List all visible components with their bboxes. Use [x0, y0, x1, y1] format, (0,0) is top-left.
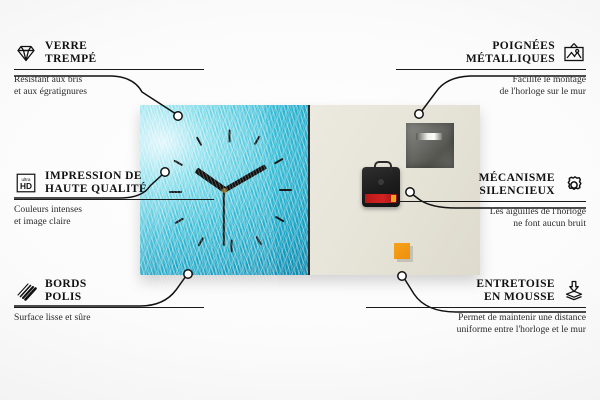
diamond-icon	[14, 41, 38, 65]
hanger-slot	[416, 133, 442, 140]
feature-title-block: BORDSPOLIS	[14, 278, 204, 304]
feature-subtitle: Les aiguilles de l'horlogene font aucun …	[396, 206, 586, 229]
mechanism-hook	[374, 161, 392, 172]
clock-tick	[229, 130, 231, 143]
feature-subtitle: Résistant aux briset aux égratignures	[14, 74, 204, 97]
clock-hand-second	[223, 190, 225, 246]
feature-verre-trempe: VERRETREMPÉ Résistant aux briset aux égr…	[14, 40, 204, 98]
feature-title-block: ENTRETOISEEN MOUSSE	[366, 278, 586, 304]
clock-tick	[256, 236, 263, 246]
feature-title: POIGNÉESMÉTALLIQUES	[466, 40, 555, 66]
clock-tick	[274, 158, 284, 165]
polished-edges-icon	[14, 279, 38, 303]
feature-title: MÉCANISMESILENCIEUX	[479, 172, 555, 198]
framed-picture-icon	[562, 41, 586, 65]
feature-title-block: POIGNÉESMÉTALLIQUES	[396, 40, 586, 66]
feature-subtitle: Couleurs intenseset image claire	[14, 204, 214, 227]
clock-tick	[254, 135, 261, 145]
clock-mechanism	[362, 167, 400, 207]
feature-entretoise-mousse: ENTRETOISEEN MOUSSE Permet de maintenir …	[366, 278, 586, 336]
feature-subtitle: Permet de maintenir une distanceuniforme…	[366, 312, 586, 335]
feature-impression-hd: ultra HD IMPRESSION DEHAUTE QUALITÉ Coul…	[14, 170, 214, 228]
battery	[365, 194, 397, 203]
feature-divider	[396, 69, 586, 70]
clock-tick	[196, 136, 203, 146]
gear-icon	[562, 173, 586, 197]
feature-mecanisme-silencieux: MÉCANISMESILENCIEUX Les aiguilles de l'h…	[396, 172, 586, 230]
clock-tick	[279, 189, 292, 191]
foam-spacer	[394, 243, 410, 259]
feature-divider	[366, 307, 586, 308]
infographic-canvas: VERRETREMPÉ Résistant aux briset aux égr…	[0, 0, 600, 400]
feature-title: BORDSPOLIS	[45, 278, 87, 304]
clock-hub	[222, 188, 227, 193]
feature-divider	[14, 307, 204, 308]
clock-tick	[275, 216, 285, 223]
feature-divider	[14, 199, 214, 200]
feature-title: IMPRESSION DEHAUTE QUALITÉ	[45, 170, 147, 196]
clock-tick	[231, 240, 233, 253]
feature-title: VERRETREMPÉ	[45, 40, 97, 66]
clock-tick	[173, 160, 183, 167]
feature-divider	[14, 69, 204, 70]
metal-hanger-plate	[406, 123, 454, 168]
feature-title-block: VERRETREMPÉ	[14, 40, 204, 66]
foam-spacer-icon	[562, 279, 586, 303]
feature-title-block: ultra HD IMPRESSION DEHAUTE QUALITÉ	[14, 170, 214, 196]
feature-poignees-metalliques: POIGNÉESMÉTALLIQUES Facilite le montaged…	[396, 40, 586, 98]
feature-divider	[396, 201, 586, 202]
feature-title: ENTRETOISEEN MOUSSE	[476, 278, 555, 304]
mechanism-shaft	[378, 179, 384, 185]
clock-tick	[198, 237, 205, 247]
svg-text:HD: HD	[20, 181, 32, 191]
feature-subtitle: Surface lisse et sûre	[14, 312, 204, 324]
feature-subtitle: Facilite le montagede l'horloge sur le m…	[396, 74, 586, 97]
feature-bords-polis: BORDSPOLIS Surface lisse et sûre	[14, 278, 204, 324]
feature-title-block: MÉCANISMESILENCIEUX	[396, 172, 586, 198]
clock-hand-minute	[223, 164, 267, 192]
ultra-hd-icon: ultra HD	[14, 171, 38, 195]
